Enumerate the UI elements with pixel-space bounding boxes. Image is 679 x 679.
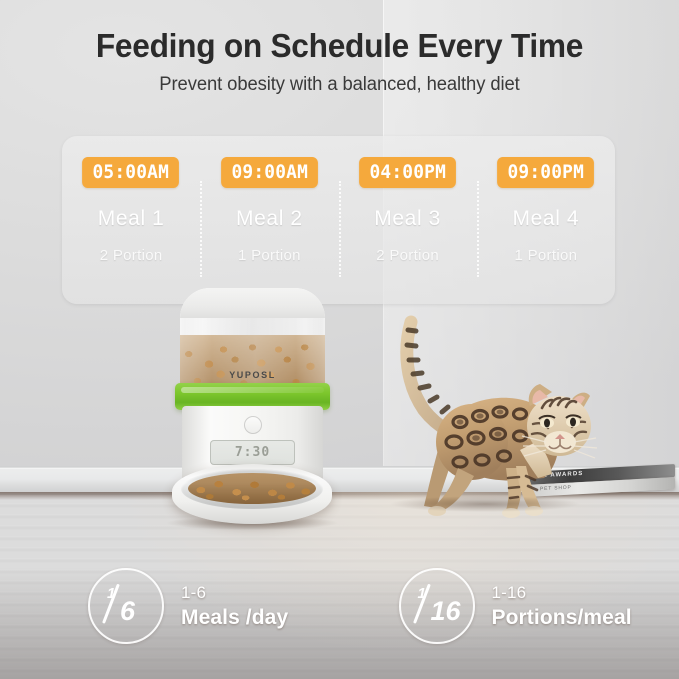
- fraction-circle-icon: 1 16: [399, 568, 475, 644]
- lcd-display: 7:30: [210, 440, 295, 465]
- meal-label: Meal 1: [98, 207, 165, 231]
- lcd-value: 7:30: [235, 445, 270, 460]
- feature-text: 1-6 Meals /day: [181, 583, 288, 630]
- schedule-column: 05:00AM Meal 1 2 Portion: [62, 136, 200, 304]
- fraction-denominator: 6: [120, 598, 135, 625]
- portion-label: 1 Portion: [515, 247, 578, 264]
- feature-unit: Meals /day: [181, 606, 288, 630]
- time-badge: 04:00PM: [359, 157, 456, 188]
- portion-label: 2 Portion: [100, 247, 163, 264]
- infographic-stage: Feeding on Schedule Every Time Prevent o…: [0, 0, 679, 679]
- portion-label: 1 Portion: [238, 247, 301, 264]
- feature-range: 1-6: [181, 583, 288, 603]
- fraction-glyph: 1 16: [412, 582, 462, 630]
- fraction-glyph: 1 6: [101, 582, 151, 630]
- feature-range: 1-16: [492, 583, 632, 603]
- schedule-column: 04:00PM Meal 3 2 Portion: [339, 136, 477, 304]
- feature-row: 1 6 1-6 Meals /day 1 16 1-16 Portions: [0, 556, 679, 656]
- time-badge: 09:00AM: [221, 157, 318, 188]
- portion-label: 2 Portion: [376, 247, 439, 264]
- fraction-denominator: 16: [431, 598, 461, 625]
- fraction-circle-icon: 1 6: [88, 568, 164, 644]
- brand-logo: YUPOSL: [180, 370, 325, 380]
- feature-meals-per-day: 1 6 1-6 Meals /day: [0, 556, 369, 656]
- feeding-schedule-panel: 05:00AM Meal 1 2 Portion 09:00AM Meal 2 …: [62, 136, 615, 304]
- hopper-lid: [180, 288, 325, 318]
- feature-text: 1-16 Portions/meal: [492, 583, 632, 630]
- meal-label: Meal 3: [374, 207, 441, 231]
- feature-unit: Portions/meal: [492, 606, 632, 630]
- feature-portions-per-meal: 1 16 1-16 Portions/meal: [369, 556, 679, 656]
- schedule-column: 09:00PM Meal 4 1 Portion: [477, 136, 615, 304]
- meal-label: Meal 2: [236, 207, 303, 231]
- schedule-column: 09:00AM Meal 2 1 Portion: [200, 136, 338, 304]
- page-subtitle: Prevent obesity with a balanced, healthy…: [10, 65, 669, 96]
- cat-illustration: [380, 300, 610, 528]
- meal-label: Meal 4: [513, 207, 580, 231]
- page-title: Feeding on Schedule Every Time: [14, 0, 666, 65]
- automatic-pet-feeder: YUPOSL 7:30: [162, 288, 342, 533]
- bengal-cat: [380, 300, 610, 528]
- food-bowl: [172, 464, 332, 524]
- header: Feeding on Schedule Every Time Prevent o…: [0, 0, 679, 96]
- power-button[interactable]: [244, 416, 262, 434]
- time-badge: 09:00PM: [497, 157, 594, 188]
- food-hopper: YUPOSL: [180, 288, 325, 391]
- time-badge: 05:00AM: [82, 157, 179, 188]
- cat-shadow: [390, 496, 580, 512]
- bowl-kibble: [188, 473, 316, 504]
